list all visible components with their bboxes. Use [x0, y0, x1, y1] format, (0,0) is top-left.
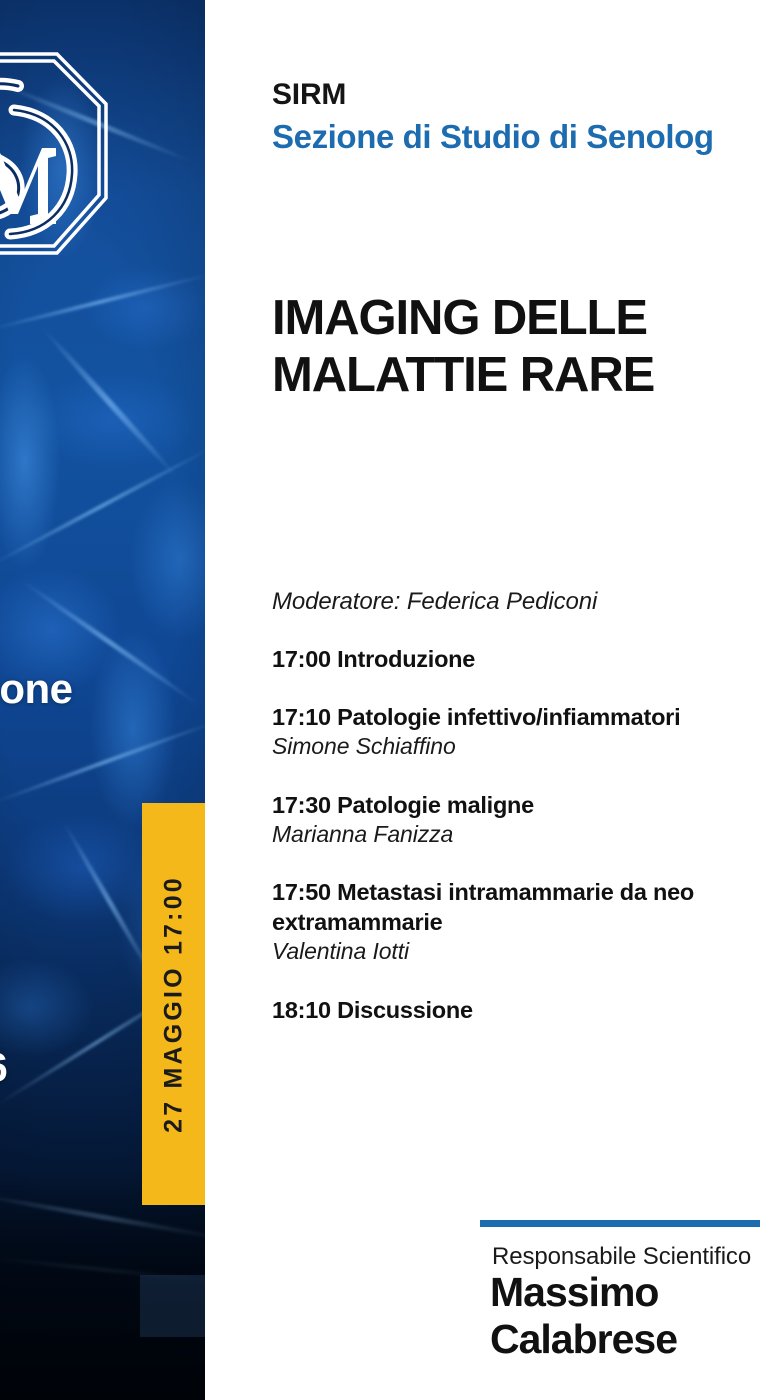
- page-title-line2: MALATTIE RARE: [272, 347, 760, 404]
- program-slot: 17:30 Patologie maligne Marianna Fanizza: [272, 790, 760, 850]
- program-slot-title: 17:30 Patologie maligne: [272, 790, 760, 820]
- moderator-line: Moderatore: Federica Pediconi: [272, 588, 760, 616]
- footer-rule: [480, 1220, 760, 1227]
- program-slot: 17:10 Patologie infettivo/infiammatori S…: [272, 702, 760, 762]
- page-title-line1: IMAGING DELLE: [272, 290, 760, 347]
- left-headline-line2: mazione: [0, 663, 205, 714]
- section-name: Sezione di Studio di Senolog: [272, 118, 714, 156]
- program-slot-title: 17:10 Patologie infettivo/infiammatori: [272, 702, 760, 732]
- program-slot-speaker: Simone Schiaffino: [272, 732, 760, 761]
- program-slot: 17:00 Introduzione: [272, 644, 760, 674]
- program-slot: 17:50 Metastasi intramammarie da neo ext…: [272, 877, 760, 967]
- program-slot-speaker: Marianna Fanizza: [272, 820, 760, 849]
- program-slot: 18:10 Discussione: [272, 995, 760, 1025]
- society-name: SIRM: [272, 78, 346, 112]
- program-slot-title: 17:00 Introduzione: [272, 644, 760, 674]
- responsible-role-label: Responsabile Scientifico: [492, 1243, 751, 1271]
- faint-image-inset: [140, 1275, 205, 1337]
- left-headline: inar mazione: [0, 612, 205, 714]
- program-slot-title: 17:50 Metastasi intramammarie da neo ext…: [272, 877, 760, 937]
- date-bar: 27 MAGGIO 17:00: [142, 803, 205, 1205]
- responsible-name: Massimo Calabrese: [490, 1269, 760, 1363]
- program-slot-title: 18:10 Discussione: [272, 995, 760, 1025]
- left-blue-panel: inar mazione 316 M 27 MAGGIO 17:00: [0, 0, 205, 1400]
- program-slot-speaker: Valentina Iotti: [272, 937, 760, 966]
- date-bar-label: 27 MAGGIO 17:00: [159, 875, 188, 1133]
- left-headline-line1: inar: [0, 612, 205, 663]
- main-content: SIRM Sezione di Studio di Senolog IMAGIN…: [205, 0, 760, 1400]
- page-title: IMAGING DELLE MALATTIE RARE: [272, 290, 760, 404]
- program-list: Moderatore: Federica Pediconi 17:00 Intr…: [272, 588, 760, 1025]
- sirm-logo: [0, 48, 112, 273]
